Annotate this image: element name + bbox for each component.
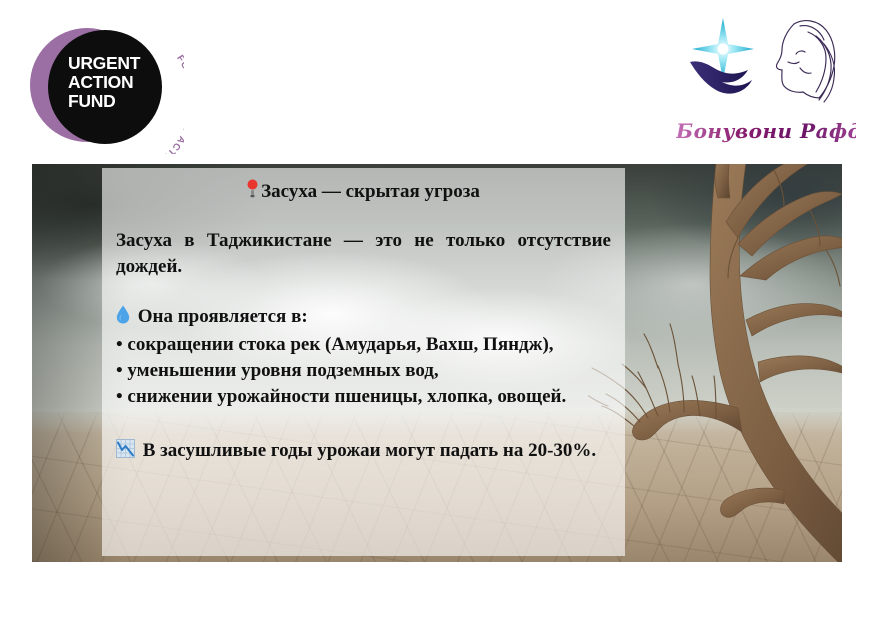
bonuvoni-farda-script-text: Бонувони Рафдо <box>676 119 856 143</box>
overlay-title: Засуха — скрытая угроза <box>116 178 611 208</box>
overlay-lead-line: Она проявляется в: <box>116 304 611 332</box>
overlay-closing-line: В засушливые годы урожаи могут падать на… <box>116 438 611 466</box>
overlay-lead-text: Она проявляется в: <box>138 306 308 327</box>
logo-wordmark: URGENT ACTION FUND <box>68 54 168 111</box>
woman-profile-icon <box>776 21 834 102</box>
dead-tree-illustration <box>588 164 842 562</box>
thermometer-icon <box>247 179 258 208</box>
chart-decreasing-icon <box>116 439 135 466</box>
overlay-intro-paragraph: Засуха в Таджикистане — это не только от… <box>116 228 611 280</box>
bonuvoni-farda-logo: Бонувони Рафдо <box>676 10 856 145</box>
logo-wordmark-line-2: ACTION <box>68 73 168 92</box>
drought-photo-card: Засуха — скрытая угроза Засуха в Таджики… <box>32 164 842 562</box>
text-overlay-panel: Засуха — скрытая угроза Засуха в Таджики… <box>102 168 625 556</box>
overlay-bullet-2: • уменьшении уровня подземных вод, <box>116 358 611 384</box>
water-drop-icon <box>116 305 130 332</box>
logo-wordmark-line-3: FUND <box>68 92 168 111</box>
overlay-bullet-3: • снижении урожайности пшеницы, хлопка, … <box>116 384 611 410</box>
slide-header: URGENT ACTION FUND FOR FEMINIST ACTIVISM <box>0 0 874 160</box>
logo-wordmark-line-1: URGENT <box>68 54 168 73</box>
overlay-closing-text: В засушливые годы урожаи могут падать на… <box>143 440 596 461</box>
overlay-bullet-1: • сокращении стока рек (Амударья, Вахш, … <box>116 332 611 358</box>
bonuvoni-farda-artwork <box>676 10 856 110</box>
urgent-action-fund-logo: URGENT ACTION FUND FOR FEMINIST ACTIVISM <box>24 14 184 154</box>
overlay-title-text: Засуха — скрытая угроза <box>261 181 480 202</box>
